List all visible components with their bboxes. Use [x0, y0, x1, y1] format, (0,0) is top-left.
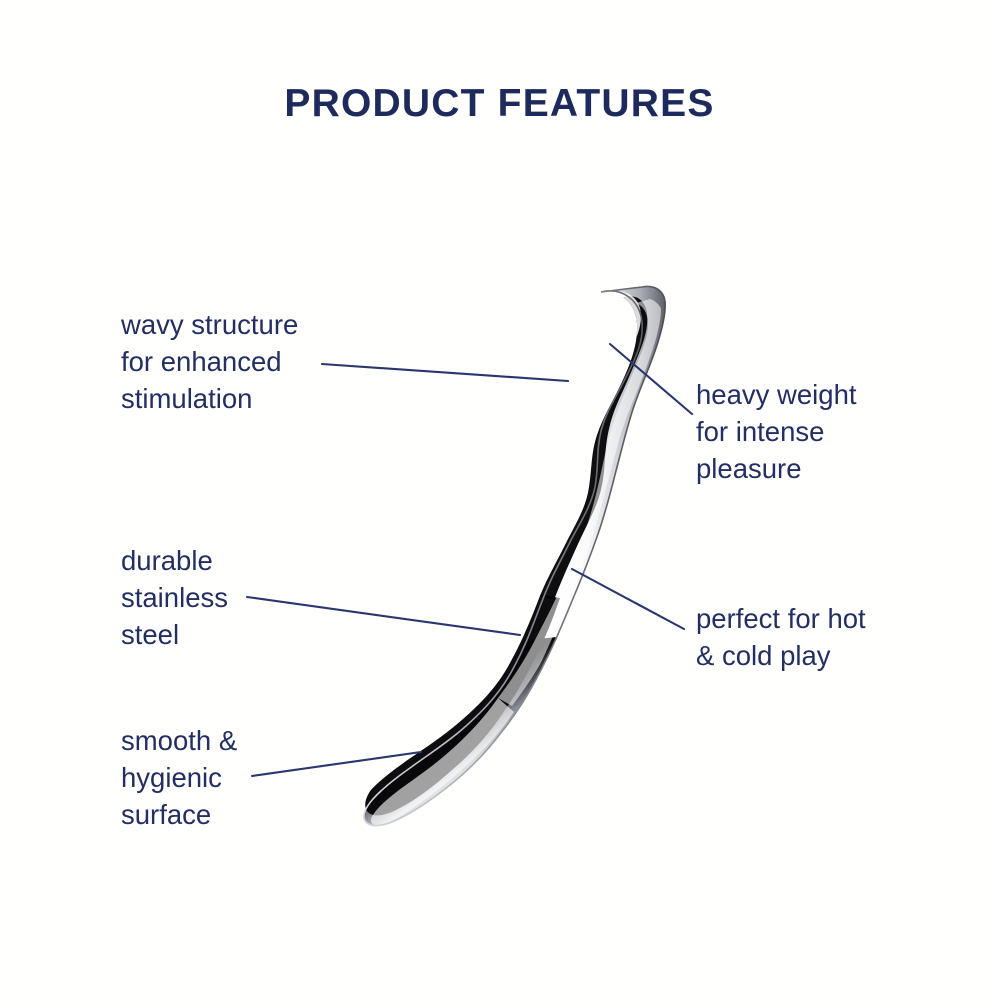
leader-line-durable-stainless-steel [247, 597, 520, 635]
callout-line: for enhanced [121, 343, 298, 380]
callout-line: heavy weight [696, 376, 857, 413]
callout-wavy-structure: wavy structure for enhanced stimulation [121, 306, 298, 417]
leader-line-hot-cold-play [572, 569, 684, 629]
wand-body [352, 286, 665, 825]
leader-line-wavy-structure [322, 364, 568, 381]
callout-line: wavy structure [121, 306, 298, 343]
callout-durable-stainless-steel: durable stainless steel [121, 542, 228, 653]
callout-heavy-weight: heavy weight for intense pleasure [696, 376, 857, 487]
wand-silhouette [364, 286, 665, 825]
callout-line: & cold play [696, 637, 866, 674]
callout-line: perfect for hot [696, 600, 866, 637]
callout-line: for intense [696, 413, 857, 450]
product-features-infographic: PRODUCT FEATURES [0, 0, 999, 1000]
callout-line: stainless [121, 579, 228, 616]
callout-line: surface [121, 796, 237, 833]
callout-line: stimulation [121, 380, 298, 417]
wand-outline [364, 286, 665, 825]
wand-shading [365, 296, 647, 815]
product-illustration [0, 0, 999, 1000]
wand-highlights [352, 290, 664, 825]
callout-line: hygienic [121, 759, 237, 796]
callout-smooth-hygienic-surface: smooth & hygienic surface [121, 722, 237, 833]
callout-line: durable [121, 542, 228, 579]
callout-line: smooth & [121, 722, 237, 759]
callout-line: steel [121, 616, 228, 653]
highlight-foot-sheen [371, 698, 514, 825]
callout-hot-cold-play: perfect for hot & cold play [696, 600, 866, 674]
callout-line: pleasure [696, 450, 857, 487]
